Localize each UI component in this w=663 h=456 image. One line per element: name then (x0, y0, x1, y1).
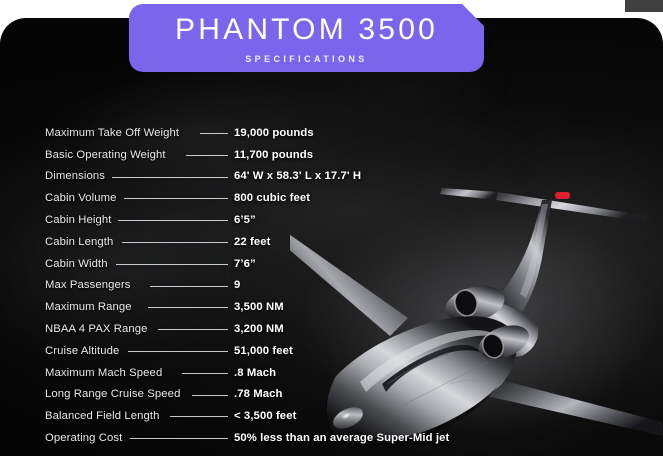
spec-card: Maximum Take Off Weight 19,000 pounds Ba… (0, 18, 663, 456)
spec-leader-line (130, 438, 228, 439)
spec-value: 50% less than an average Super-Mid jet (234, 432, 449, 444)
spec-label: Operating Cost (45, 432, 122, 444)
spec-leader-line (122, 242, 228, 243)
page-title: PHANTOM 3500 (175, 15, 438, 45)
spec-row: Cabin Height 6’5” (45, 209, 645, 231)
spec-leader-line (192, 395, 228, 396)
spec-row: Cabin Length 22 feet (45, 231, 645, 253)
spec-value: 9 (234, 279, 240, 291)
corner-chip (625, 0, 663, 12)
spec-leader-line (150, 286, 228, 287)
spec-value: 3,500 NM (234, 301, 284, 313)
spec-value: 7’6” (234, 258, 256, 270)
spec-leader-line (124, 198, 228, 199)
spec-label: Max Passengers (45, 279, 131, 291)
spec-label: Maximum Take Off Weight (45, 127, 179, 139)
spec-row: Max Passengers 9 (45, 275, 645, 297)
spec-label: Cabin Width (45, 258, 108, 270)
spec-label: Dimensions (45, 170, 105, 182)
spec-value: .78 Mach (234, 388, 283, 400)
spec-leader-line (200, 133, 228, 134)
spec-row: Maximum Range 3,500 NM (45, 296, 645, 318)
spec-leader-line (118, 220, 228, 221)
spec-value: 11,700 pounds (234, 149, 313, 161)
spec-value: 800 cubic feet (234, 192, 310, 204)
spec-row: Long Range Cruise Speed .78 Mach (45, 384, 645, 406)
title-banner: PHANTOM 3500 SPECIFICATIONS (129, 4, 484, 72)
spec-row: Operating Cost 50% less than an average … (45, 427, 645, 449)
spec-value: 51,000 feet (234, 345, 293, 357)
spec-leader-line (186, 155, 228, 156)
page-subtitle: SPECIFICATIONS (245, 54, 367, 64)
spec-label: Maximum Range (45, 301, 132, 313)
specification-list: Maximum Take Off Weight 19,000 pounds Ba… (45, 122, 645, 449)
spec-value: 3,200 NM (234, 323, 284, 335)
spec-leader-line (148, 307, 228, 308)
spec-leader-line (182, 373, 228, 374)
spec-row: Maximum Mach Speed .8 Mach (45, 362, 645, 384)
spec-label: Balanced Field Length (45, 410, 160, 422)
spec-row: NBAA 4 PAX Range 3,200 NM (45, 318, 645, 340)
spec-leader-line (112, 177, 228, 178)
spec-label: Cruise Altitude (45, 345, 119, 357)
spec-value: 64' W x 58.3' L x 17.7' H (234, 170, 361, 182)
spec-label: Maximum Mach Speed (45, 367, 162, 379)
spec-leader-line (128, 351, 228, 352)
spec-row: Dimensions 64' W x 58.3' L x 17.7' H (45, 166, 645, 188)
spec-label: NBAA 4 PAX Range (45, 323, 148, 335)
specification-card-page: Maximum Take Off Weight 19,000 pounds Ba… (0, 0, 663, 456)
spec-row: Cruise Altitude 51,000 feet (45, 340, 645, 362)
spec-value: .8 Mach (234, 367, 276, 379)
spec-leader-line (158, 329, 228, 330)
spec-label: Cabin Height (45, 214, 112, 226)
spec-label: Cabin Volume (45, 192, 117, 204)
spec-row: Cabin Width 7’6” (45, 253, 645, 275)
spec-row: Balanced Field Length < 3,500 feet (45, 405, 645, 427)
spec-label: Cabin Length (45, 236, 113, 248)
spec-leader-line (170, 416, 228, 417)
spec-value: < 3,500 feet (234, 410, 296, 422)
spec-label: Basic Operating Weight (45, 149, 166, 161)
spec-leader-line (116, 264, 228, 265)
spec-value: 19,000 pounds (234, 127, 314, 139)
spec-row: Cabin Volume 800 cubic feet (45, 187, 645, 209)
spec-value: 6’5” (234, 214, 256, 226)
spec-label: Long Range Cruise Speed (45, 388, 180, 400)
spec-row: Maximum Take Off Weight 19,000 pounds (45, 122, 645, 144)
spec-row: Basic Operating Weight 11,700 pounds (45, 144, 645, 166)
spec-value: 22 feet (234, 236, 271, 248)
